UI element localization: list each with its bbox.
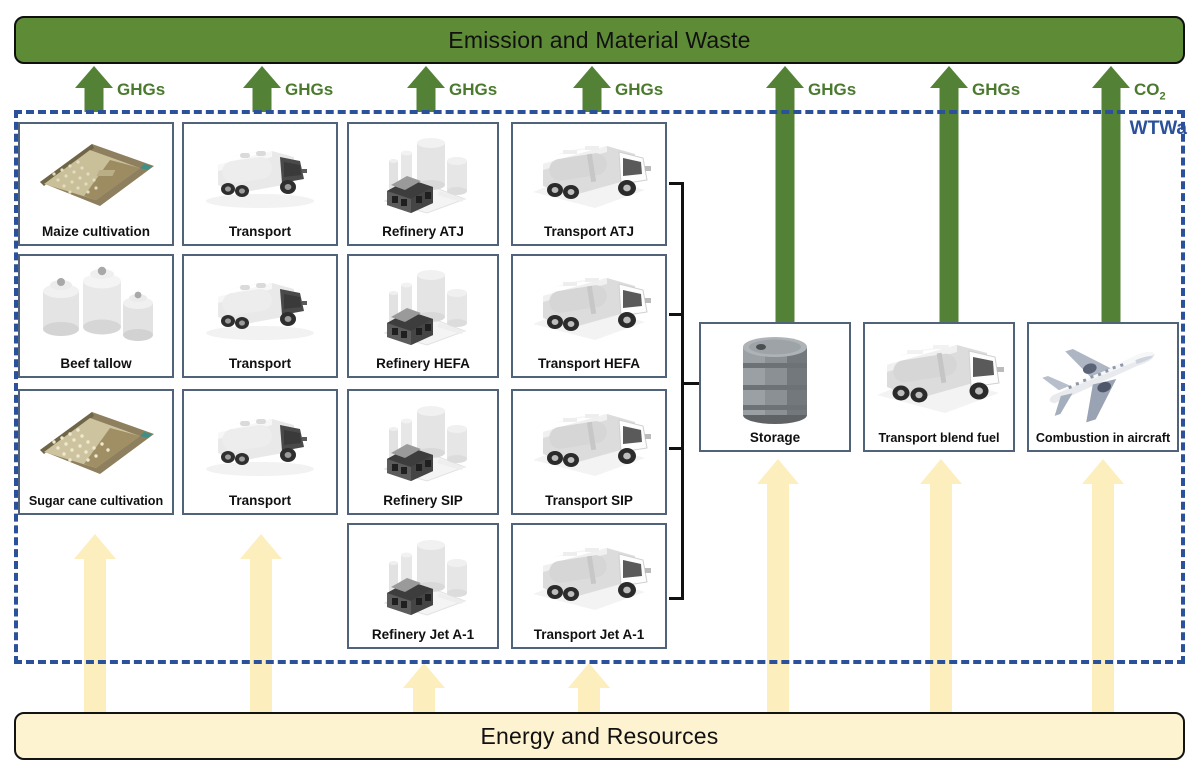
stage-box-maize-cultivation[interactable]: Maize cultivation [18, 122, 174, 246]
tanker-truck-icon [513, 395, 665, 489]
stage-box-label: Transport [184, 356, 336, 371]
ghg-arrow-3-label: GHGs [449, 80, 497, 100]
field-icon [20, 128, 172, 220]
ghg-arrow-2-label: GHGs [285, 80, 333, 100]
co2-arrow-label: CO2 [1134, 80, 1166, 102]
up-arrow-icon [1092, 66, 1130, 88]
stage-box-beef-tallow[interactable]: Beef tallow [18, 254, 174, 378]
stage-box-transport-1[interactable]: Transport [182, 122, 338, 246]
tanker-truck-icon [184, 260, 336, 352]
stage-box-label: Sugar cane cultivation [20, 494, 172, 508]
up-arrow-icon [407, 66, 445, 88]
wtwa-boundary-label: WTWa [1130, 118, 1187, 140]
stage-box-transport-blend-fuel[interactable]: Transport blend fuel [863, 322, 1015, 452]
stage-box-label: Transport HEFA [513, 356, 665, 371]
stage-box-refinery-hefa[interactable]: Refinery HEFA [347, 254, 499, 378]
ghg-arrow-6-label: GHGs [972, 80, 1020, 100]
energy-arrow-4 [568, 663, 610, 712]
ghg-arrow-1 [75, 66, 113, 112]
refinery-icon [349, 128, 497, 220]
tanks-icon [20, 260, 172, 352]
bracket-tick-top [669, 182, 681, 185]
up-arrow-icon [568, 663, 610, 688]
ghg-arrow-5-label: GHGs [808, 80, 856, 100]
stage-box-label: Transport ATJ [513, 224, 665, 239]
up-arrow-icon [930, 66, 968, 88]
stage-box-transport-3[interactable]: Transport [182, 389, 338, 515]
stage-box-label: Refinery ATJ [349, 224, 497, 239]
stage-box-label: Storage [701, 430, 849, 445]
up-arrow-icon [573, 66, 611, 88]
stage-box-transport-atj[interactable]: Transport ATJ [511, 122, 667, 246]
refinery-icon [349, 260, 497, 352]
arrow-shaft [583, 88, 602, 112]
stage-box-combustion-in-aircraft[interactable]: Combustion in aircraft [1027, 322, 1179, 452]
bracket-spine [681, 182, 684, 600]
up-arrow-icon [403, 663, 445, 688]
bracket-tick-hefa [669, 313, 681, 316]
up-arrow-icon [75, 66, 113, 88]
up-arrow-icon [243, 66, 281, 88]
arrow-shaft [417, 88, 436, 112]
tanker-truck-icon [513, 260, 665, 352]
bracket-tick-sip [669, 447, 681, 450]
tanker-truck-icon [865, 328, 1013, 426]
stage-box-transport-jet-a1[interactable]: Transport Jet A-1 [511, 523, 667, 649]
up-arrow-icon [766, 66, 804, 88]
ghg-arrow-1-label: GHGs [117, 80, 165, 100]
stage-box-label: Transport blend fuel [865, 431, 1013, 445]
ghg-arrow-3 [407, 66, 445, 112]
tanker-truck-icon [513, 128, 665, 220]
emission-banner: Emission and Material Waste [14, 16, 1185, 64]
resources-banner-label: Energy and Resources [481, 723, 719, 750]
aircraft-icon [1029, 328, 1177, 426]
stage-box-label: Refinery Jet A-1 [349, 627, 497, 642]
refinery-icon [349, 529, 497, 623]
arrow-shaft [85, 88, 104, 112]
stage-box-label: Combustion in aircraft [1029, 431, 1177, 445]
refinery-icon [349, 395, 497, 489]
field-icon [20, 395, 172, 489]
stage-box-refinery-jet-a1[interactable]: Refinery Jet A-1 [347, 523, 499, 649]
stage-box-label: Refinery SIP [349, 493, 497, 508]
stage-box-refinery-atj[interactable]: Refinery ATJ [347, 122, 499, 246]
stage-box-label: Transport [184, 224, 336, 239]
ghg-arrow-4-label: GHGs [615, 80, 663, 100]
stage-box-label: Refinery HEFA [349, 356, 497, 371]
stage-box-label: Transport Jet A-1 [513, 627, 665, 642]
stage-box-label: Beef tallow [20, 356, 172, 371]
stage-box-label: Maize cultivation [20, 224, 172, 239]
tanker-truck-icon [184, 128, 336, 220]
ghg-arrow-2 [243, 66, 281, 112]
oil-drum-icon [701, 328, 849, 426]
tanker-truck-icon [184, 395, 336, 489]
stage-box-transport-2[interactable]: Transport [182, 254, 338, 378]
tanker-truck-icon [513, 529, 665, 623]
stage-box-transport-hefa[interactable]: Transport HEFA [511, 254, 667, 378]
stage-box-label: Transport SIP [513, 493, 665, 508]
ghg-arrow-4 [573, 66, 611, 112]
arrow-shaft [413, 688, 435, 712]
stage-box-refinery-sip[interactable]: Refinery SIP [347, 389, 499, 515]
emission-banner-label: Emission and Material Waste [448, 27, 750, 54]
stage-box-transport-sip[interactable]: Transport SIP [511, 389, 667, 515]
stage-box-label: Transport [184, 493, 336, 508]
bracket-tick-bottom [669, 597, 681, 600]
resources-banner: Energy and Resources [14, 712, 1185, 760]
stage-box-storage[interactable]: Storage [699, 322, 851, 452]
diagram-canvas: Emission and Material Waste GHGs GHGs GH… [0, 0, 1199, 775]
arrow-shaft [253, 88, 272, 112]
stage-box-sugar-cane-cultivation[interactable]: Sugar cane cultivation [18, 389, 174, 515]
arrow-shaft [578, 688, 600, 712]
energy-arrow-3 [403, 663, 445, 712]
